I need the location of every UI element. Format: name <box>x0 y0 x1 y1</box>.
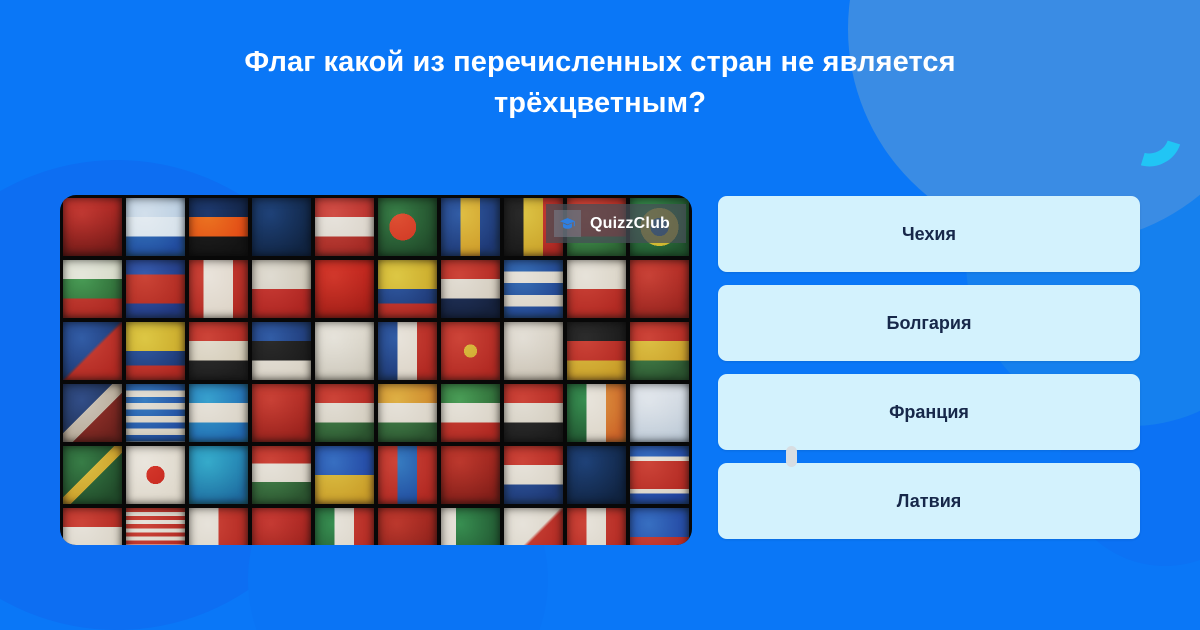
flag-tile-barbados <box>441 198 500 256</box>
answer-option-3[interactable]: Франция <box>718 374 1140 450</box>
flag-tile-jamaica <box>63 446 122 504</box>
question-title-line-2: трёхцветным? <box>494 87 706 119</box>
flag-tile-morocco <box>252 508 311 545</box>
question-title-line-1: Флаг какой из перечисленных стран не явл… <box>244 46 955 78</box>
flag-tile-philippines <box>630 508 689 545</box>
flag-tile-north-korea <box>630 446 689 504</box>
flag-tile-china <box>315 260 374 318</box>
flag-tile-greece <box>126 384 185 442</box>
flag-tile-finland <box>315 322 374 380</box>
answer-option-3-label: Франция <box>889 402 969 423</box>
flag-tile-iraq <box>504 384 563 442</box>
flag-tile-estonia <box>252 322 311 380</box>
flag-tile-hungary <box>315 384 374 442</box>
flag-tile-armenia <box>189 198 248 256</box>
flag-tile-iran <box>441 384 500 442</box>
flag-tile-austria <box>315 198 374 256</box>
flag-tile-netherlands <box>504 446 563 504</box>
flag-tile-tajikistan <box>252 446 311 504</box>
flag-tile-pakistan <box>441 508 500 545</box>
flag-tile-malaysia <box>126 508 185 545</box>
flag-tile-united-kingdom <box>63 384 122 442</box>
answer-option-4-label: Латвия <box>897 491 962 512</box>
flag-grid <box>60 195 692 545</box>
flag-tile-israel <box>630 384 689 442</box>
flag-tile-montenegro <box>441 446 500 504</box>
flag-tile-norway <box>378 508 437 545</box>
graduation-cap-icon <box>554 210 581 237</box>
flag-tile-bulgaria <box>63 260 122 318</box>
answer-option-1-label: Чехия <box>902 224 956 245</box>
flag-tile-denmark <box>630 260 689 318</box>
answer-option-1[interactable]: Чехия <box>718 196 1140 272</box>
quizzclub-watermark: QuizzClub <box>546 204 686 243</box>
flag-tile-ukraine <box>315 446 374 504</box>
flag-tile-colombia <box>378 260 437 318</box>
flag-tile-japan-naval <box>126 446 185 504</box>
flag-tile-dominican-republic <box>63 322 122 380</box>
flag-tile-ghana <box>630 322 689 380</box>
answer-options-list: Чехия Болгария Франция Латвия <box>718 196 1140 539</box>
flag-tile-honduras <box>189 384 248 442</box>
flag-tile-croatia <box>441 260 500 318</box>
flag-tile-albania <box>63 198 122 256</box>
question-title: Флаг какой из перечисленных стран не явл… <box>0 42 1200 124</box>
flag-tile-ecuador <box>126 322 185 380</box>
flags-collage-image: QuizzClub <box>60 195 692 545</box>
scroll-thumb[interactable] <box>786 446 797 467</box>
answer-option-2[interactable]: Болгария <box>718 285 1140 361</box>
answer-option-2-label: Болгария <box>887 313 972 334</box>
flag-tile-bangladesh <box>378 198 437 256</box>
flag-tile-france <box>378 322 437 380</box>
flag-tile-georgia <box>504 322 563 380</box>
quizzclub-watermark-label: QuizzClub <box>590 215 670 233</box>
flag-tile-germany <box>567 322 626 380</box>
answer-option-4[interactable]: Латвия <box>718 463 1140 539</box>
flag-tile-ireland <box>567 384 626 442</box>
flag-tile-australia <box>252 198 311 256</box>
flag-tile-chile <box>252 260 311 318</box>
flag-tile-north-macedonia <box>441 322 500 380</box>
flag-tile-kazakhstan <box>189 446 248 504</box>
flag-tile-panama <box>504 508 563 545</box>
flag-tile-hong-kong <box>252 384 311 442</box>
flag-tile-czech-republic <box>567 260 626 318</box>
flag-tile-canada <box>189 260 248 318</box>
flag-tile-cuba <box>504 260 563 318</box>
flag-tile-malta <box>189 508 248 545</box>
flag-tile-luxembourg <box>63 508 122 545</box>
flag-tile-argentina <box>126 198 185 256</box>
flag-tile-mexico <box>315 508 374 545</box>
flag-tile-egypt <box>189 322 248 380</box>
flag-tile-india <box>378 384 437 442</box>
flag-tile-new-zealand <box>567 446 626 504</box>
flag-tile-peru <box>567 508 626 545</box>
flag-tile-cambodia <box>126 260 185 318</box>
flag-tile-mongolia <box>378 446 437 504</box>
